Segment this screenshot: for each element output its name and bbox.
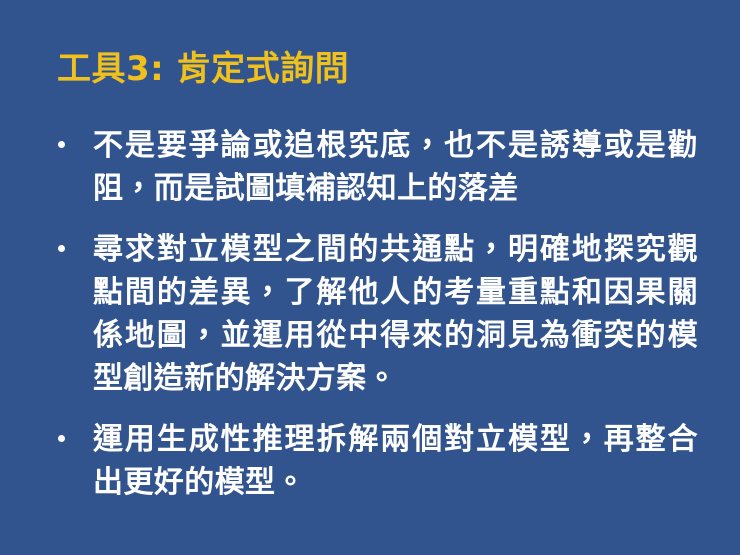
list-item: 運用生成性推理拆解兩個對立模型，再整合出更好的模型。 xyxy=(50,418,698,504)
list-item-text: 尋求對立模型之間的共通點，明確地探究觀點間的差異，了解他人的考量重點和因果關係地… xyxy=(93,228,698,400)
list-item-text: 運用生成性推理拆解兩個對立模型，再整合出更好的模型。 xyxy=(93,418,698,504)
list-item: 尋求對立模型之間的共通點，明確地探究觀點間的差異，了解他人的考量重點和因果關係地… xyxy=(50,228,698,400)
presentation-slide: 工具3: 肯定式詢問 不是要爭論或追根究底，也不是誘導或是勸阻，而是試圖填補認知… xyxy=(0,0,740,555)
bullet-dot-icon xyxy=(58,435,65,442)
bullet-dot-icon xyxy=(58,245,65,252)
bullet-list: 不是要爭論或追根究底，也不是誘導或是勸阻，而是試圖填補認知上的落差 尋求對立模型… xyxy=(50,124,698,504)
list-item-text: 不是要爭論或追根究底，也不是誘導或是勸阻，而是試圖填補認知上的落差 xyxy=(93,124,698,210)
list-item: 不是要爭論或追根究底，也不是誘導或是勸阻，而是試圖填補認知上的落差 xyxy=(50,124,698,210)
bullet-dot-icon xyxy=(58,141,65,148)
page-title: 工具3: 肯定式詢問 xyxy=(57,47,697,91)
